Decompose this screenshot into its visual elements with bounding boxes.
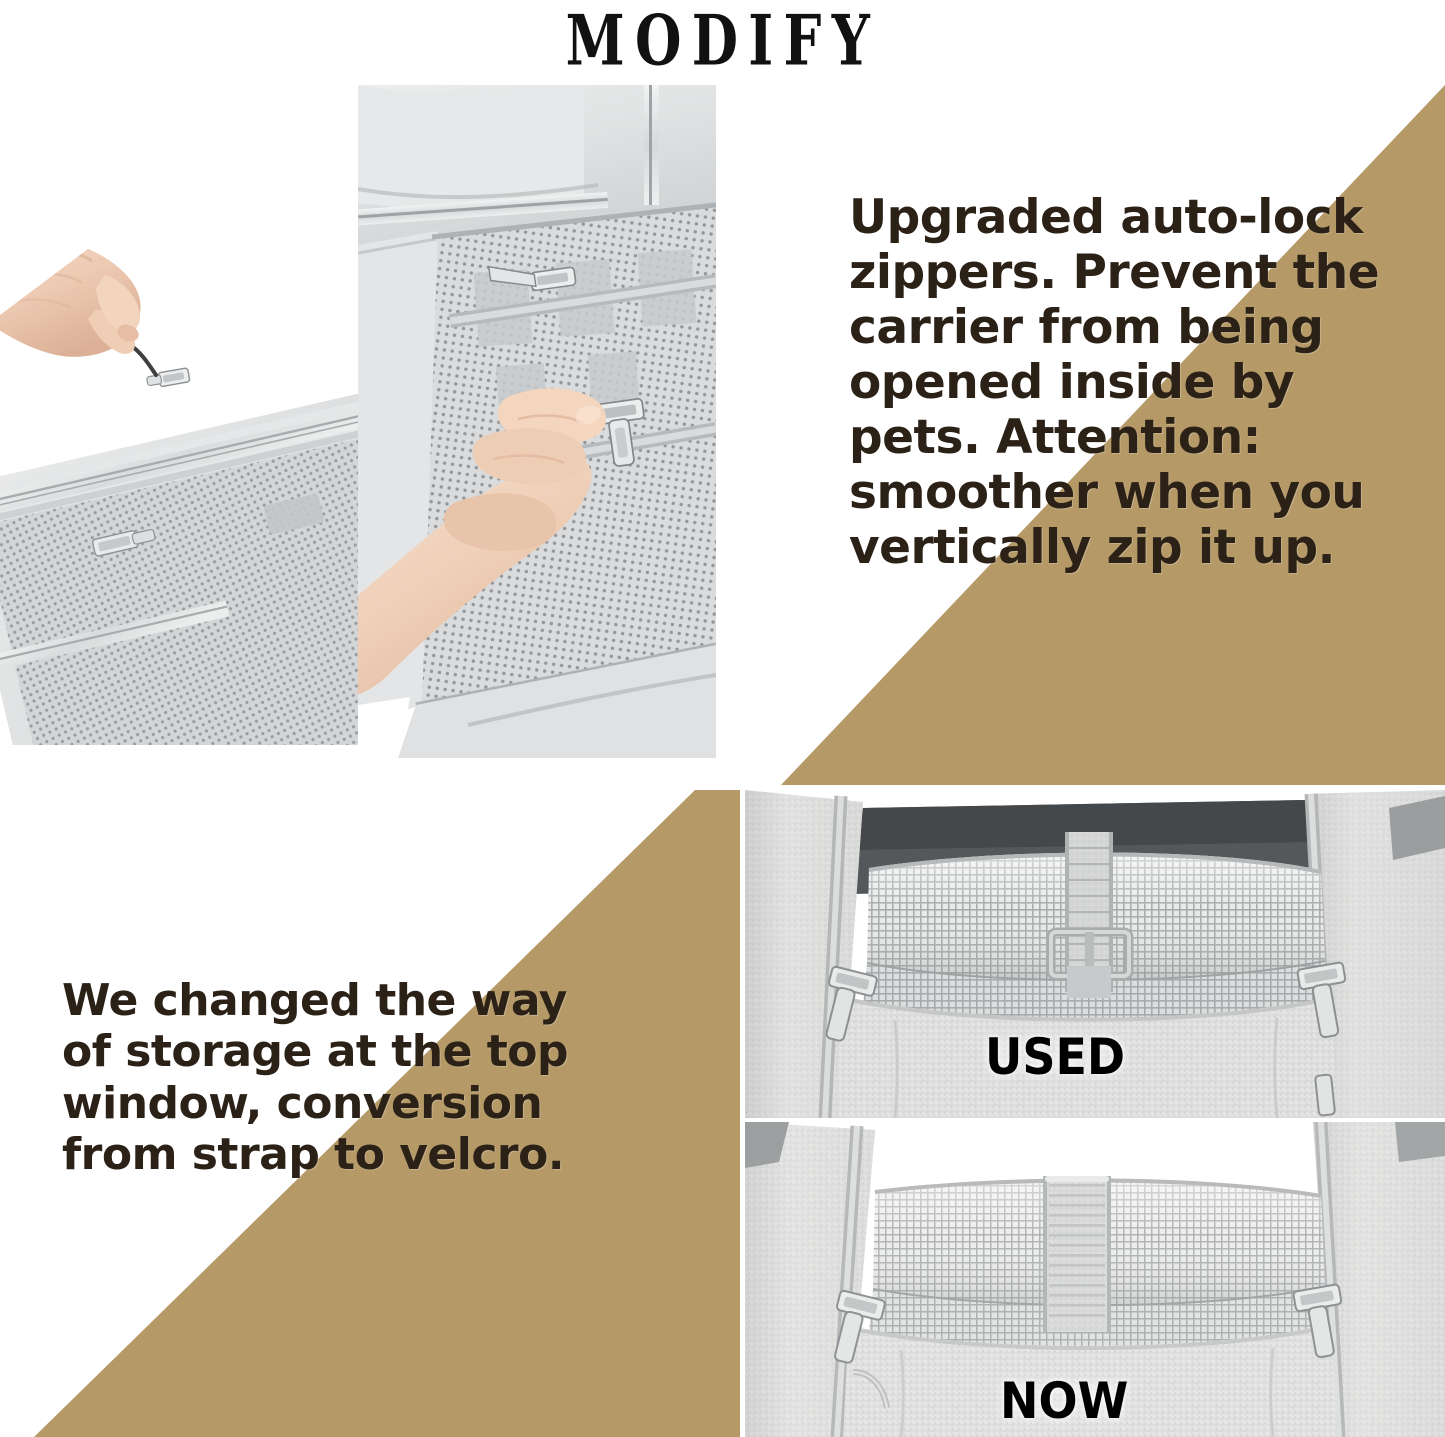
page-title-bar: MODIFY bbox=[0, 0, 1445, 82]
zipper-line-3: carrier from being bbox=[849, 300, 1445, 355]
zipper-line-6: smoother when you bbox=[849, 465, 1445, 520]
photo-zipper-pull-left bbox=[0, 205, 358, 745]
page-title: MODIFY bbox=[565, 6, 879, 75]
photo-top-window-used: USED bbox=[745, 790, 1445, 1118]
storage-line-2: of storage at the top bbox=[62, 1026, 702, 1077]
panel-storage-text: We changed the way of storage at the top… bbox=[0, 790, 740, 1437]
zipper-line-5: pets. Attention: bbox=[849, 410, 1445, 465]
infographic-page: MODIFY bbox=[0, 0, 1445, 1437]
storage-line-1: We changed the way bbox=[62, 975, 702, 1026]
photo-zipper-pull-right bbox=[358, 85, 716, 758]
photo-top-window-now: NOW bbox=[745, 1122, 1445, 1437]
zipper-line-1: Upgraded auto-lock bbox=[849, 190, 1445, 245]
photo-zipper-pull-right-art bbox=[358, 85, 716, 758]
zipper-line-7: vertically zip it up. bbox=[849, 520, 1445, 575]
label-now: NOW bbox=[1000, 1372, 1128, 1430]
storage-text-body: We changed the way of storage at the top… bbox=[62, 975, 702, 1181]
photo-zipper-pull-left-art bbox=[0, 205, 358, 745]
zipper-line-2: zippers. Prevent the bbox=[849, 245, 1445, 300]
zipper-line-4: opened inside by bbox=[849, 355, 1445, 410]
storage-line-4: from strap to velcro. bbox=[62, 1129, 702, 1180]
storage-line-3: window, conversion bbox=[62, 1078, 702, 1129]
label-used: USED bbox=[985, 1028, 1125, 1086]
panel-zipper-text: Upgraded auto-lock zippers. Prevent the … bbox=[745, 85, 1445, 785]
velcro-tab-mechanism bbox=[1043, 1176, 1111, 1332]
zipper-text-body: Upgraded auto-lock zippers. Prevent the … bbox=[849, 190, 1445, 575]
